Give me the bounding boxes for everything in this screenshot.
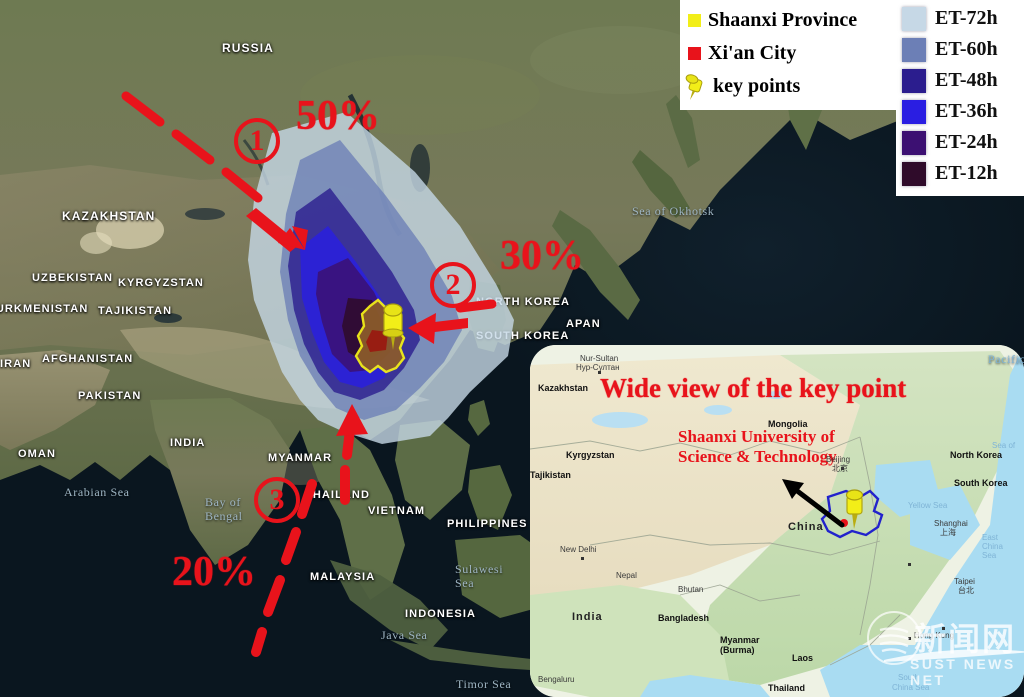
inset-label-nepal: Nepal: [616, 571, 637, 580]
pushpin-icon: [684, 73, 706, 101]
legend-et-scale: ET-72h ET-60h ET-48h ET-36h ET-24h ET-12…: [896, 0, 1024, 196]
inset-label-bengaluru: Bengaluru: [538, 675, 574, 684]
et-72h-label: ET-72h: [935, 7, 998, 30]
annotation-percent-2: 30%: [500, 232, 584, 280]
et-12h-swatch: [902, 162, 926, 186]
annotation-percent-1: 50%: [296, 92, 380, 140]
inset-label-thailand: Thailand: [768, 683, 805, 693]
legend-item-xian: Xi'an City: [688, 37, 886, 70]
inset-label-sea-of: Sea of: [992, 441, 1015, 450]
inset-map: Wide view of the key point Shaanxi Unive…: [530, 345, 1024, 697]
inset-label-nur-sultan: Nur-Sultan: [580, 354, 618, 363]
legend-et-row-48: ET-48h: [902, 65, 1018, 96]
legend-et-row-72: ET-72h: [902, 3, 1018, 34]
et-48h-swatch: [902, 69, 926, 93]
inset-label-shanghai-cn: 上海: [940, 527, 956, 538]
inset-label-bhutan: Bhutan: [678, 585, 703, 594]
et-24h-label: ET-24h: [935, 131, 998, 154]
et-36h-label: ET-36h: [935, 100, 998, 123]
annotation-3-arrow: [345, 430, 350, 500]
legend-label-shaanxi: Shaanxi Province: [708, 9, 857, 32]
annotation-circle-1: 1: [234, 118, 280, 164]
et-60h-label: ET-60h: [935, 38, 998, 61]
map-label-pacific: Pacific: [988, 352, 1024, 367]
legend-symbols: Shaanxi Province Xi'an City key points: [680, 0, 896, 110]
inset-label-china: China: [788, 521, 824, 533]
inset-label-kazakhstan: Kazakhstan: [538, 383, 588, 393]
yellow-square-icon: [688, 14, 701, 27]
et-24h-swatch: [902, 131, 926, 155]
inset-label-tajikistan: Tajikistan: [530, 470, 571, 480]
inset-label-north-korea: North Korea: [950, 450, 1002, 460]
legend-panel: Shaanxi Province Xi'an City key points E…: [680, 0, 1024, 196]
inset-label-burma: (Burma): [720, 645, 755, 655]
inset-subtitle-line1: Shaanxi University of: [678, 427, 835, 447]
et-72h-swatch: [902, 7, 926, 31]
legend-label-keypoints: key points: [713, 75, 800, 98]
inset-label-new-delhi: New Delhi: [560, 545, 596, 554]
legend-et-row-12: ET-12h: [902, 158, 1018, 189]
legend-et-row-36: ET-36h: [902, 96, 1018, 127]
inset-label-beijing-cn: 北京: [832, 463, 848, 474]
annotation-circle-3: 3: [254, 477, 300, 523]
et-12h-label: ET-12h: [935, 162, 998, 185]
et-60h-swatch: [902, 38, 926, 62]
inset-label-taipei-cn: 台北: [958, 585, 974, 596]
inset-label-china-sea: China Sea: [892, 683, 929, 692]
key-point-pushpin-icon: [376, 300, 410, 352]
inset-label-kyrgyzstan: Kyrgyzstan: [566, 450, 615, 460]
inset-label-india: India: [572, 611, 603, 623]
inset-label-south-korea: South Korea: [954, 478, 1008, 488]
legend-item-keypoints: key points: [688, 70, 886, 103]
inset-label-hong-kong: Hong Kong: [914, 631, 954, 640]
legend-et-row-60: ET-60h: [902, 34, 1018, 65]
legend-et-row-24: ET-24h: [902, 127, 1018, 158]
inset-label-nur-sultan-ru: Нур-Султан: [576, 363, 620, 372]
et-36h-swatch: [902, 100, 926, 124]
inset-label-east-china-sea: East China Sea: [982, 533, 1018, 560]
inset-label-south: South: [898, 673, 919, 682]
inset-label-myanmar: Myanmar: [720, 635, 760, 645]
inset-label-bangladesh: Bangladesh: [658, 613, 709, 623]
legend-item-shaanxi: Shaanxi Province: [688, 4, 886, 37]
inset-subtitle-line2: Science & Technology: [678, 447, 837, 467]
inset-label-laos: Laos: [792, 653, 813, 663]
legend-label-xian: Xi'an City: [708, 42, 796, 65]
annotation-percent-3: 20%: [172, 548, 256, 596]
inset-label-mongolia: Mongolia: [768, 419, 808, 429]
inset-pushpin-icon: [842, 487, 870, 531]
et-48h-label: ET-48h: [935, 69, 998, 92]
screenshot-root: RUSSIA KAZAKHSTAN UZBEKISTAN KYRGYZSTAN …: [0, 0, 1024, 697]
inset-label-yellow-sea: Yellow Sea: [908, 501, 947, 510]
inset-title: Wide view of the key point: [600, 373, 906, 404]
annotation-circle-2: 2: [430, 262, 476, 308]
red-square-icon: [688, 47, 701, 60]
